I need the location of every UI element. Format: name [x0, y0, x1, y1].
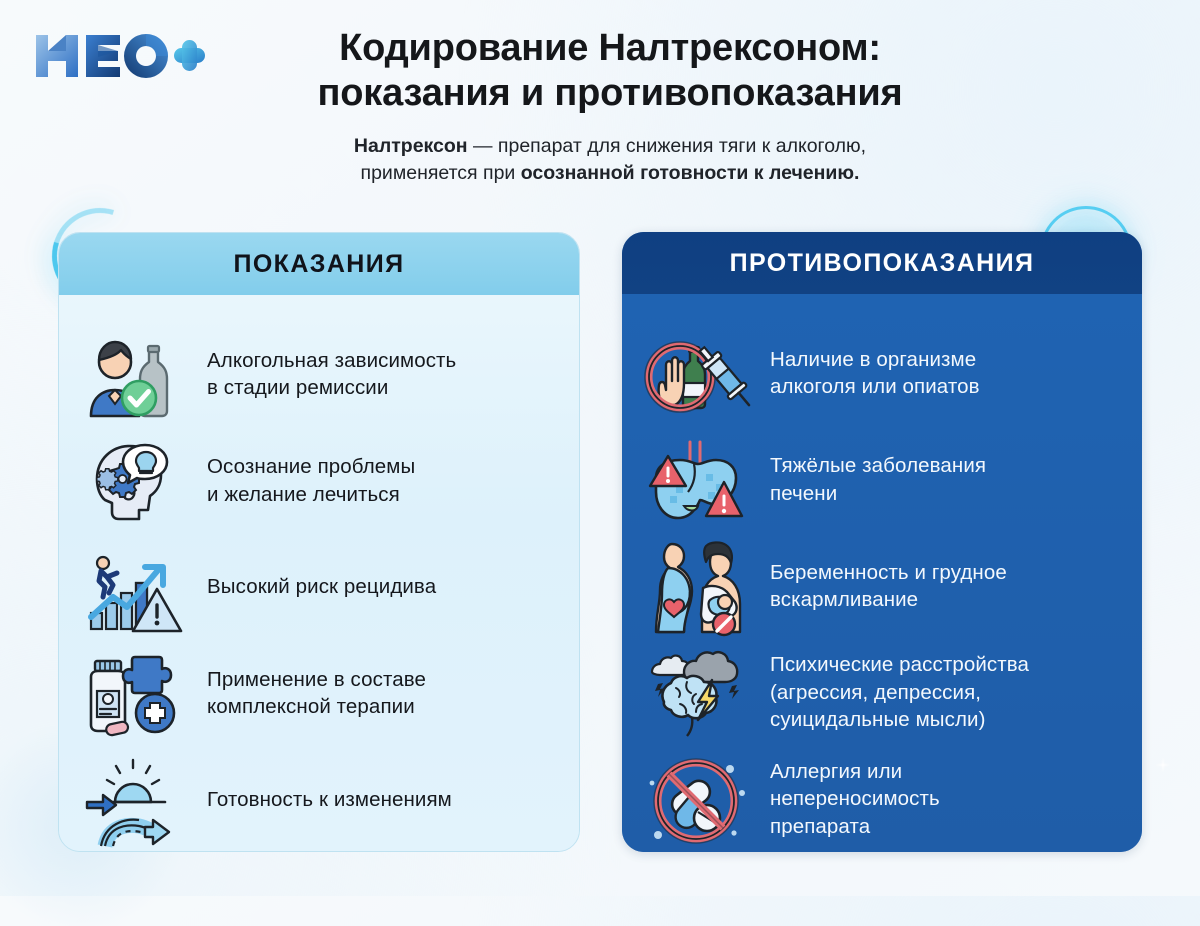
arrow-sunrise-road-icon [83, 754, 187, 846]
card-indications-body: Алкогольная зависимость в стадии ремисси… [59, 295, 579, 852]
card-indications-title: ПОКАЗАНИЯ [59, 233, 579, 295]
title-block: Кодирование Налтрексоном: показания и пр… [215, 26, 1005, 186]
subtitle-line2-rest: применяется при [361, 162, 521, 184]
list-item-label: Алкогольная зависимость в стадии ремисси… [207, 347, 456, 402]
list-item-label: Беременность и грудное вскармливание [770, 559, 1007, 614]
list-item: Наличие в организме алкоголя или опиатов [646, 320, 1116, 426]
list-item: Психические расстройства (агрессия, депр… [646, 639, 1116, 745]
list-item-label: Осознание проблемы и желание лечиться [207, 453, 415, 508]
list-item: Применение в составе комплексной терапии [83, 640, 553, 746]
person-bottle-check-icon [83, 328, 187, 420]
list-item: Алкогольная зависимость в стадии ремисси… [83, 321, 553, 427]
card-contraindications-title: ПРОТИВОПОКАЗАНИЯ [622, 232, 1142, 294]
stop-hand-bottle-syringe-icon [646, 327, 750, 419]
list-item: Готовность к изменениям [83, 747, 553, 852]
list-item: Аллергия или непереносимость препарата [646, 746, 1116, 852]
pregnancy-breastfeeding-ban-icon [646, 540, 750, 632]
list-item-label: Аллергия или непереносимость препарата [770, 758, 940, 840]
list-item: Беременность и грудное вскармливание [646, 533, 1116, 639]
brain-storm-lightning-icon [646, 646, 750, 738]
list-item-label: Готовность к изменениям [207, 786, 452, 813]
liver-warning-icon [646, 434, 750, 526]
subtitle-bold-drug: Налтрексон [354, 135, 468, 157]
card-indications: ПОКАЗАНИЯ [58, 232, 580, 852]
list-item: Осознание проблемы и желание лечиться [83, 427, 553, 533]
header: Кодирование Налтрексоном: показания и пр… [0, 0, 1200, 212]
subtitle-line1-rest: — препарат для снижения тяги к алкоголю, [468, 135, 866, 157]
pills-prohibited-icon [646, 753, 750, 845]
card-contraindications: ПРОТИВОПОКАЗАНИЯ [622, 232, 1142, 852]
infographic-page: Кодирование Налтрексоном: показания и пр… [0, 0, 1200, 896]
list-item-label: Наличие в организме алкоголя или опиатов [770, 346, 980, 401]
list-item: Высокий риск рецидива [83, 534, 553, 640]
pill-bottle-puzzle-cross-icon [83, 647, 187, 739]
page-title-line1: Кодирование Налтрексоном: [339, 27, 881, 69]
neo-plus-logo [34, 29, 206, 83]
list-item: Тяжёлые заболевания печени [646, 426, 1116, 532]
person-rising-chart-warning-icon [83, 541, 187, 633]
list-item-label: Психические расстройства (агрессия, депр… [770, 651, 1029, 733]
page-title-line2: показания и противопоказания [318, 72, 903, 114]
list-item-label: Тяжёлые заболевания печени [770, 452, 986, 507]
card-contraindications-body: Наличие в организме алкоголя или опиатов [622, 294, 1142, 852]
list-item-label: Применение в составе комплексной терапии [207, 666, 426, 721]
subtitle-bold-readiness: осознанной готовности к лечению. [521, 162, 860, 184]
page-subtitle: Налтрексон — препарат для снижения тяги … [215, 133, 1005, 187]
page-title: Кодирование Налтрексоном: показания и пр… [215, 26, 1005, 116]
head-gears-lightbulb-icon [83, 435, 187, 527]
list-item-label: Высокий риск рецидива [207, 573, 436, 600]
cards-container: ПОКАЗАНИЯ [0, 232, 1200, 852]
